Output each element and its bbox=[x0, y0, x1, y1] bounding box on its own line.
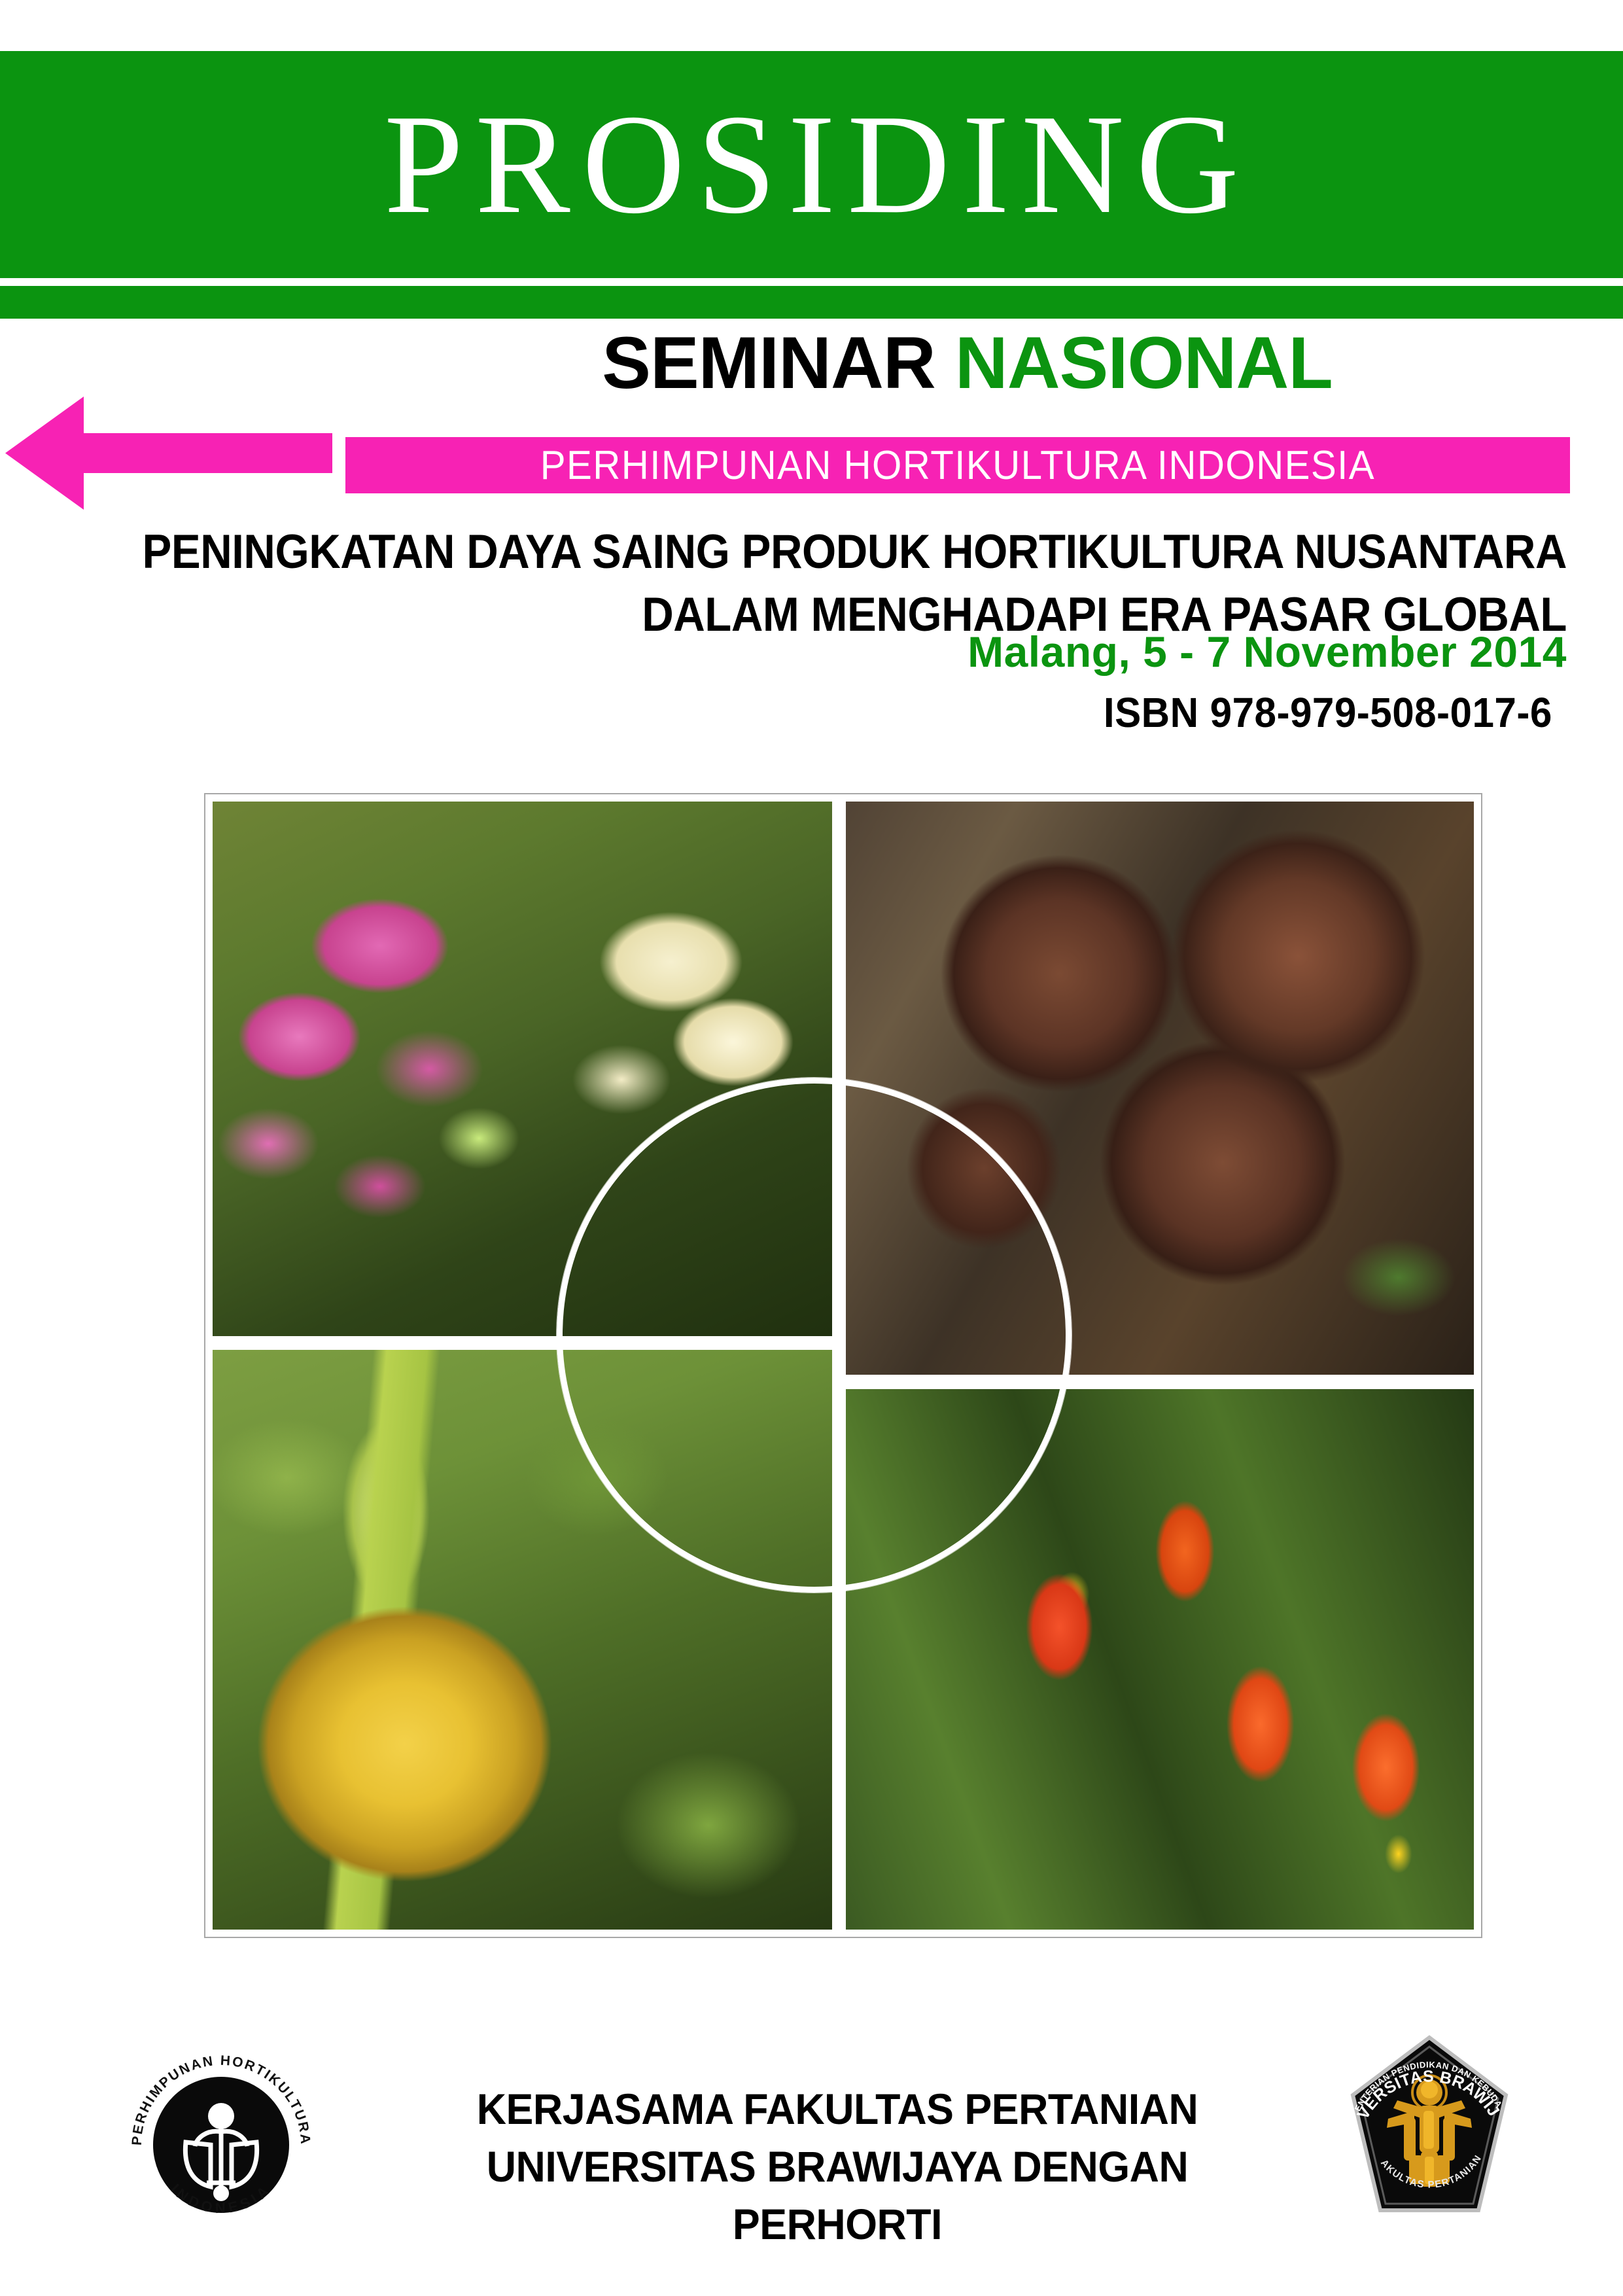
organization-bar: PERHIMPUNAN HORTIKULTURA INDONESIA bbox=[345, 437, 1570, 493]
pink-arrow-icon bbox=[5, 393, 332, 514]
footer-block: PERHIMPUNAN HORTIKULTURA INDONESIA KERJA… bbox=[0, 2015, 1623, 2264]
collaboration-text: KERJASAMA FAKULTAS PERTANIAN UNIVERSITAS… bbox=[353, 2081, 1321, 2253]
perhorti-logo: PERHIMPUNAN HORTIKULTURA INDONESIA bbox=[123, 2047, 319, 2243]
seminar-title: SEMINAR NASIONAL bbox=[0, 321, 1568, 406]
seminar-heading-block: SEMINAR NASIONAL bbox=[0, 321, 1623, 406]
prosiding-banner: PROSIDING bbox=[0, 51, 1623, 278]
footer-line-1: KERJASAMA FAKULTAS PERTANIAN bbox=[377, 2081, 1297, 2138]
hydrangea-image bbox=[563, 1084, 1066, 1586]
page-title: PROSIDING bbox=[372, 94, 1251, 236]
nasional-word: NASIONAL bbox=[955, 322, 1333, 404]
collage-grid bbox=[213, 802, 1474, 1930]
universitas-brawijaya-logo: KEMENTERIAN PENDIDIKAN DAN KEBUDAYAAN UN… bbox=[1341, 2032, 1518, 2229]
isbn-value: ISBN 978-979-508-017-6 bbox=[1104, 688, 1552, 737]
seminar-word: SEMINAR bbox=[602, 322, 935, 404]
theme-line-1: PENINGKATAN DAYA SAING PRODUK HORTIKULTU… bbox=[126, 521, 1567, 584]
footer-line-2: UNIVERSITAS BRAWIJAYA DENGAN PERHORTI bbox=[377, 2138, 1297, 2253]
collage-photo-hydrangea-circle bbox=[557, 1078, 1072, 1592]
banner-accent-bar bbox=[0, 286, 1623, 319]
event-date-place: Malang, 5 - 7 November 2014 bbox=[0, 627, 1623, 677]
organization-label: PERHIMPUNAN HORTIKULTURA INDONESIA bbox=[540, 442, 1375, 489]
photo-collage bbox=[204, 793, 1482, 1938]
isbn-text: ISBN 978-979-508-017-6 bbox=[0, 688, 1623, 737]
